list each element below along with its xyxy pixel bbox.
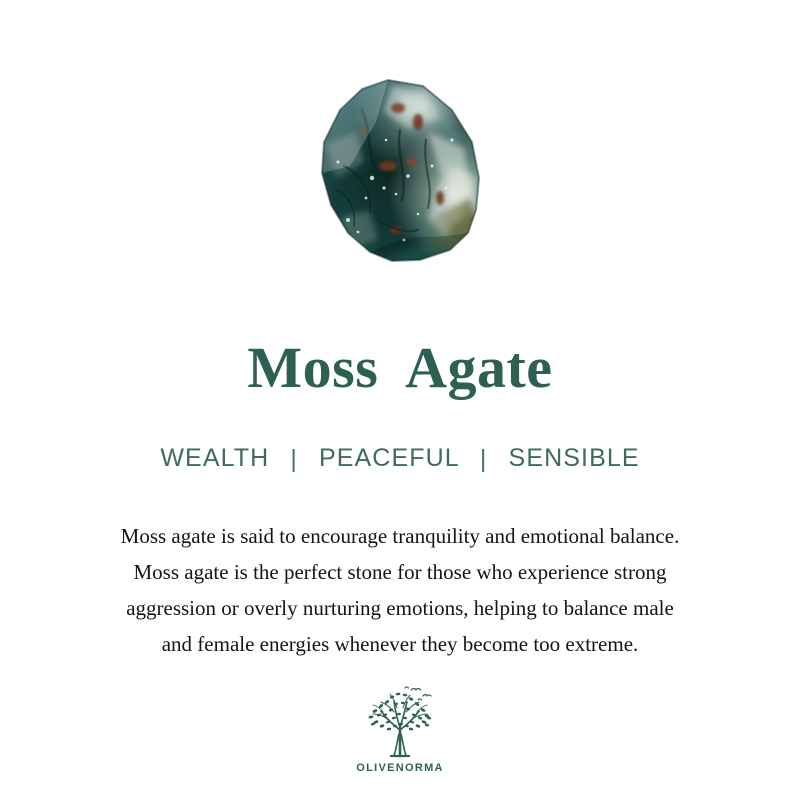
olive-tree-icon [361,684,439,760]
brand-logo: OLIVENORMA [0,684,800,774]
description-line-1: Moss agate is said to encourage tranquil… [40,518,760,554]
product-title: Moss Agate [0,336,800,400]
description-line-2: Moss agate is the perfect stone for thos… [40,554,760,590]
product-description: Moss agate is said to encourage tranquil… [40,518,760,662]
keyword-peaceful: PEACEFUL [319,444,459,472]
keyword-wealth: WEALTH [160,444,269,472]
stone-body [300,70,500,270]
keyword-list: WEALTH | PEACEFUL | SENSIBLE [0,443,800,474]
brand-name: OLIVENORMA [356,762,444,774]
description-line-3: aggression or overly nurturing emotions,… [40,590,760,626]
keyword-separator-2: | [480,444,488,475]
moss-agate-stone-image [300,70,500,270]
tree-foliage [368,692,431,730]
stone-image-container [0,62,800,277]
keyword-sensible: SENSIBLE [509,444,640,472]
description-line-4: and female energies whenever they become… [40,626,760,662]
keyword-separator-1: | [290,444,298,475]
product-info-card: Moss Agate WEALTH | PEACEFUL | SENSIBLE … [0,0,800,800]
